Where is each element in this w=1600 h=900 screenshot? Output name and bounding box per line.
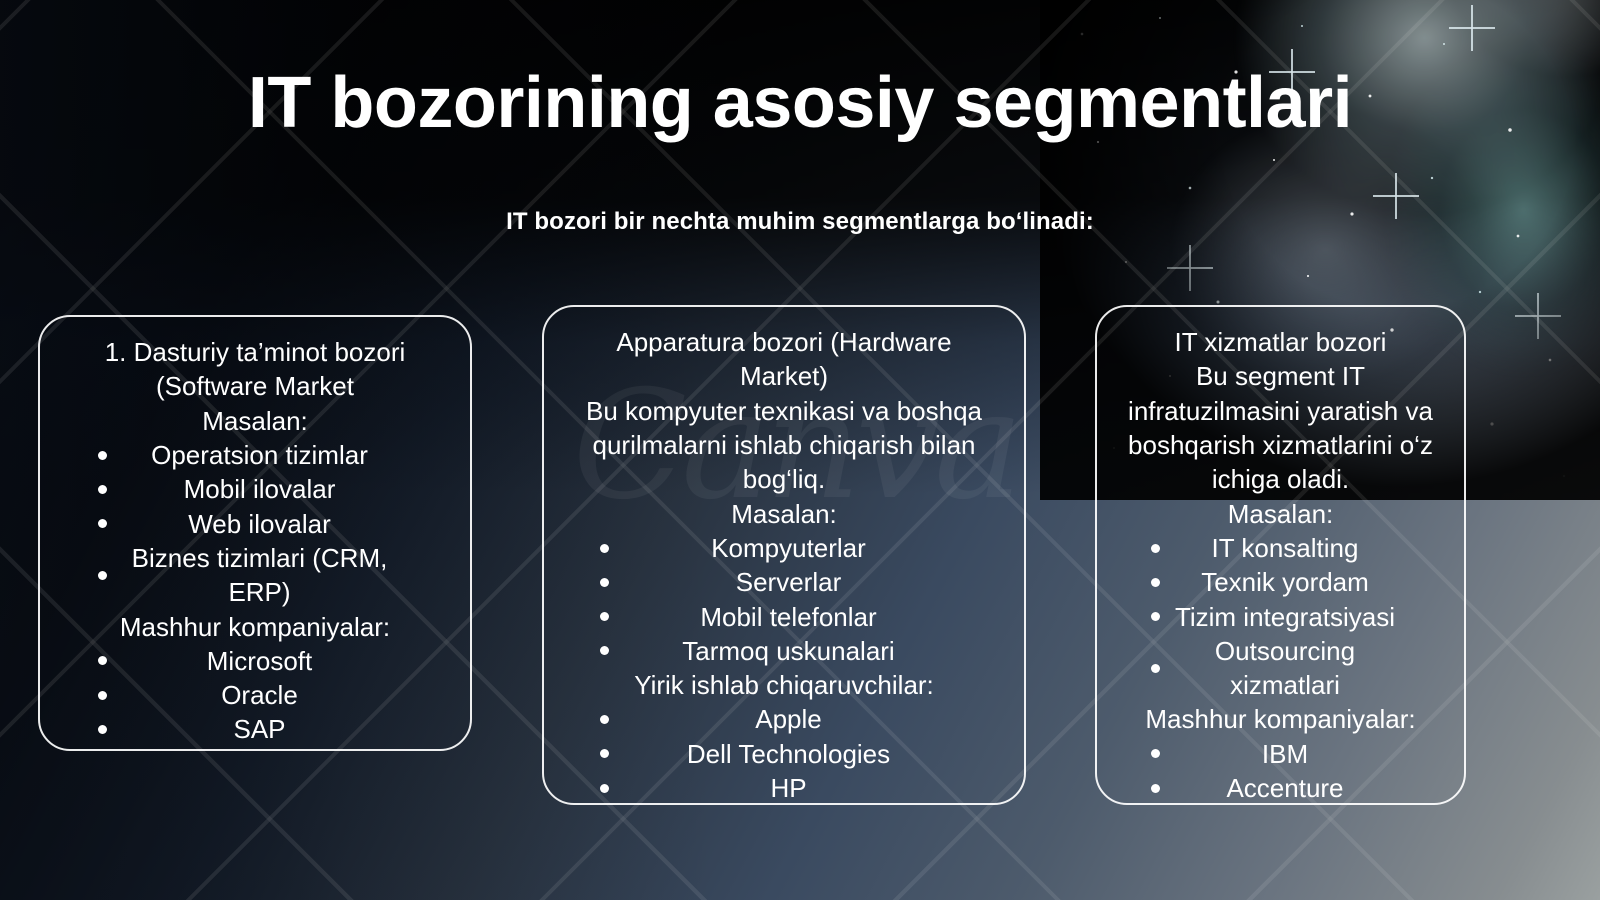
list-item-label: Mobil ilovalar bbox=[107, 472, 456, 506]
card-mid-label: Mashhur kompaniyalar: bbox=[54, 610, 456, 644]
segment-card-it-services-market: IT xizmatlar bozori Bu segment IT infrat… bbox=[1095, 305, 1466, 805]
bullet-icon bbox=[1151, 544, 1160, 553]
bullet-icon bbox=[98, 519, 107, 528]
list-item-label: IBM bbox=[1160, 737, 1450, 771]
list-item-label: Microsoft bbox=[107, 644, 456, 678]
list-item-label: Serverlar bbox=[609, 565, 1010, 599]
slide-content: IT bozorining asosiy segmentlari IT bozo… bbox=[0, 0, 1600, 900]
list-item: IBM bbox=[1111, 737, 1450, 771]
list-item-label: Oracle bbox=[107, 678, 456, 712]
list-item: Web ilovalar bbox=[54, 507, 456, 541]
card-heading-line: (Software Market bbox=[54, 369, 456, 403]
bullet-icon bbox=[600, 784, 609, 793]
list-item-label: Apple bbox=[609, 702, 1010, 736]
segment-card-software-market: 1. Dasturiy ta’minot bozori (Software Ma… bbox=[38, 315, 472, 751]
list-item-label: Biznes tizimlari (CRM, ERP) bbox=[107, 541, 456, 610]
list-item-label: Accenture bbox=[1160, 771, 1450, 805]
list-item: Dell Technologies bbox=[558, 737, 1010, 771]
card-heading-line: ichiga oladi. bbox=[1111, 462, 1450, 496]
card-heading-line: boshqarish xizmatlarini o‘z bbox=[1111, 428, 1450, 462]
bullet-icon bbox=[600, 612, 609, 621]
list-item: Serverlar bbox=[558, 565, 1010, 599]
list-item: Accenture bbox=[1111, 771, 1450, 805]
list-item-label: Kompyuterlar bbox=[609, 531, 1010, 565]
bullet-icon bbox=[1151, 612, 1160, 621]
list-item-label: Mobil telefonlar bbox=[609, 600, 1010, 634]
list-item: Oracle bbox=[54, 678, 456, 712]
bullet-icon bbox=[600, 715, 609, 724]
list-item: Biznes tizimlari (CRM, ERP) bbox=[54, 541, 456, 610]
bullet-icon bbox=[98, 725, 107, 734]
bullet-icon bbox=[600, 749, 609, 758]
card-heading-line: qurilmalarni ishlab chiqarish bilan bbox=[558, 428, 1010, 462]
list-item-label: Web ilovalar bbox=[107, 507, 456, 541]
bullet-icon bbox=[98, 451, 107, 460]
card-heading-line: Masalan: bbox=[1111, 497, 1450, 531]
list-item: Outsourcing xizmatlari bbox=[1111, 634, 1450, 703]
bullet-icon bbox=[1151, 749, 1160, 758]
list-item: SAP bbox=[54, 712, 456, 746]
list-item-label: Outsourcing xizmatlari bbox=[1160, 634, 1450, 703]
list-item: Operatsion tizimlar bbox=[54, 438, 456, 472]
card-mid-label: Yirik ishlab chiqaruvchilar: bbox=[558, 668, 1010, 702]
bullet-icon bbox=[98, 656, 107, 665]
list-item: Tizim integratsiyasi bbox=[1111, 600, 1450, 634]
bullet-icon bbox=[98, 485, 107, 494]
bullet-icon bbox=[600, 646, 609, 655]
list-item: Mobil ilovalar bbox=[54, 472, 456, 506]
list-item-label: Operatsion tizimlar bbox=[107, 438, 456, 472]
list-item: Kompyuterlar bbox=[558, 531, 1010, 565]
list-item: IT konsalting bbox=[1111, 531, 1450, 565]
list-item: Mobil telefonlar bbox=[558, 600, 1010, 634]
card-heading-line: IT xizmatlar bozori bbox=[1111, 325, 1450, 359]
card-heading-line: Market) bbox=[558, 359, 1010, 393]
card-heading-line: Apparatura bozori (Hardware bbox=[558, 325, 1010, 359]
list-item-label: Dell Technologies bbox=[609, 737, 1010, 771]
bullet-icon bbox=[98, 571, 107, 580]
bullet-icon bbox=[1151, 578, 1160, 587]
card-heading-line: Masalan: bbox=[54, 404, 456, 438]
list-item-label: Tarmoq uskunalari bbox=[609, 634, 1010, 668]
list-item: Tarmoq uskunalari bbox=[558, 634, 1010, 668]
list-item: HP bbox=[558, 771, 1010, 805]
bullet-icon bbox=[1151, 784, 1160, 793]
list-item: Texnik yordam bbox=[1111, 565, 1450, 599]
card-heading-line: Masalan: bbox=[558, 497, 1010, 531]
card-heading-line: Bu segment IT bbox=[1111, 359, 1450, 393]
bullet-icon bbox=[98, 691, 107, 700]
list-item-label: Tizim integratsiyasi bbox=[1160, 600, 1450, 634]
segment-card-hardware-market: Apparatura bozori (Hardware Market) Bu k… bbox=[542, 305, 1026, 805]
list-item-label: Texnik yordam bbox=[1160, 565, 1450, 599]
list-item: Apple bbox=[558, 702, 1010, 736]
card-heading-line: bog‘liq. bbox=[558, 462, 1010, 496]
list-item-label: SAP bbox=[107, 712, 456, 746]
card-heading-line: infratuzilmasini yaratish va bbox=[1111, 394, 1450, 428]
list-item-label: HP bbox=[609, 771, 1010, 805]
segment-cards-container: 1. Dasturiy ta’minot bozori (Software Ma… bbox=[0, 0, 1600, 900]
card-heading-line: 1. Dasturiy ta’minot bozori bbox=[54, 335, 456, 369]
bullet-icon bbox=[600, 544, 609, 553]
list-item: Microsoft bbox=[54, 644, 456, 678]
card-heading-line: Bu kompyuter texnikasi va boshqa bbox=[558, 394, 1010, 428]
bullet-icon bbox=[1151, 664, 1160, 673]
card-mid-label: Mashhur kompaniyalar: bbox=[1111, 702, 1450, 736]
list-item-label: IT konsalting bbox=[1160, 531, 1450, 565]
bullet-icon bbox=[600, 578, 609, 587]
